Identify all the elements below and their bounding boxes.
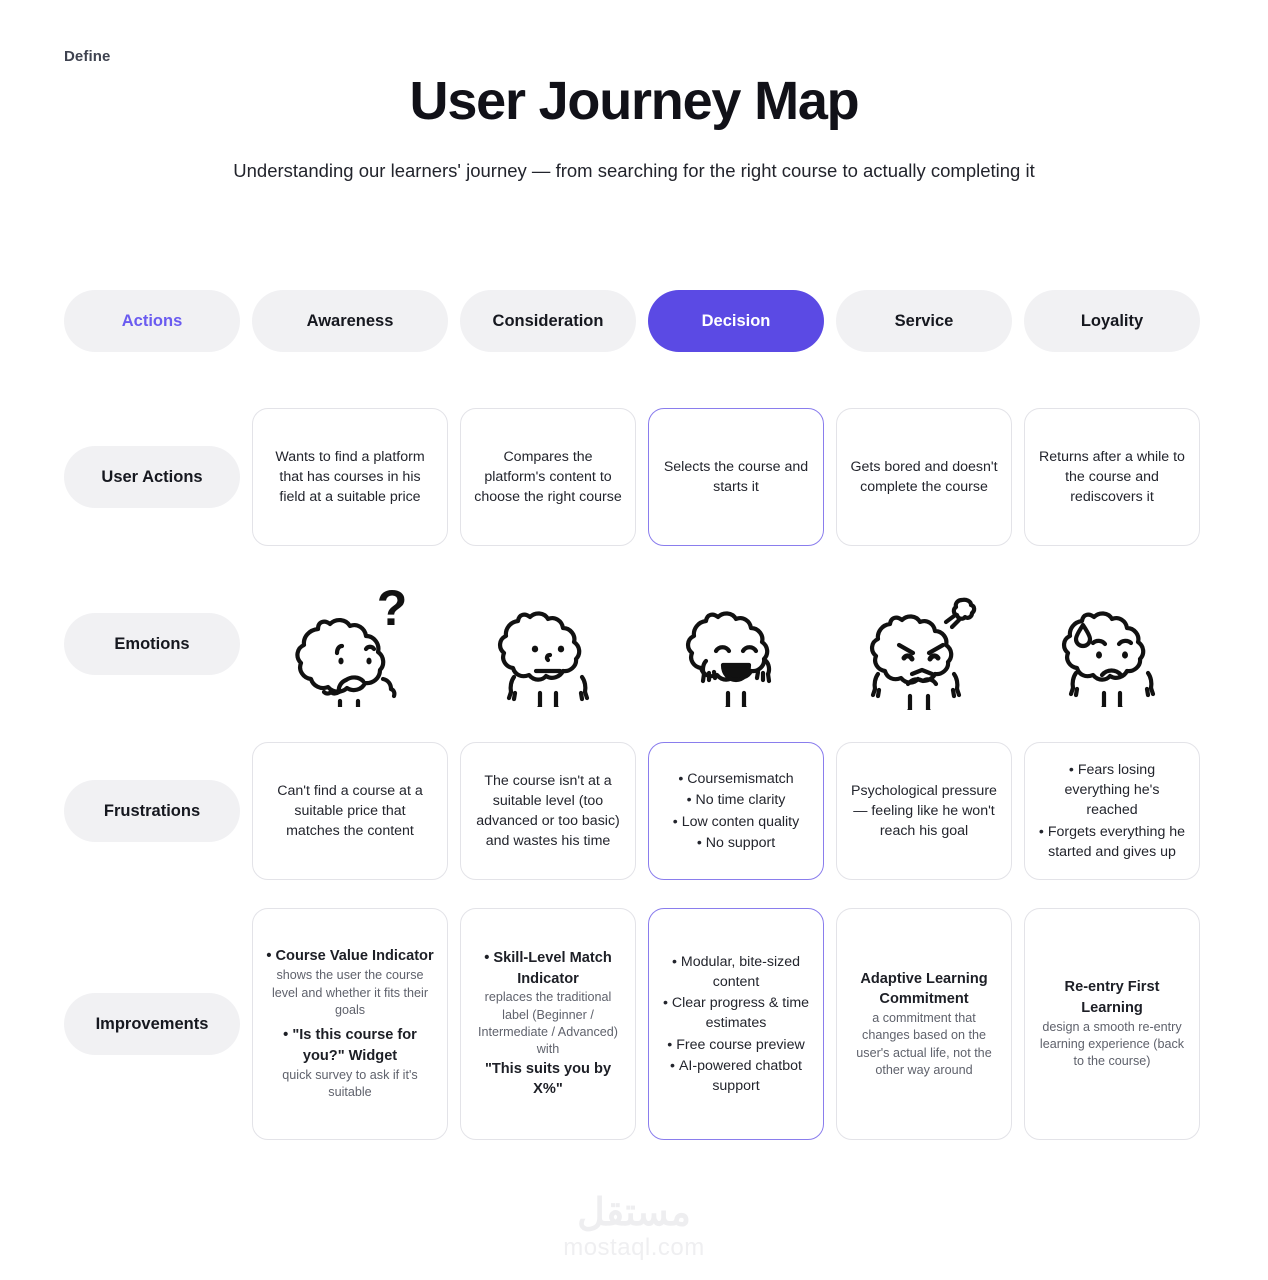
watermark: مستقل mostaql.com xyxy=(0,1194,1268,1262)
frustrations-cell-service[interactable]: Psychological pressure — feeling like he… xyxy=(836,742,1012,880)
list-item: Low conten quality xyxy=(662,812,810,832)
cell-text: Returns after a while to the course and … xyxy=(1038,447,1186,507)
cell-text: Selects the course and starts it xyxy=(662,457,810,497)
list-item: No time clarity xyxy=(662,790,810,810)
user-actions-cell-loyality[interactable]: Returns after a while to the course and … xyxy=(1024,408,1200,546)
list-item: AI-powered chatbot support xyxy=(662,1056,810,1096)
user-actions-cell-consideration[interactable]: Compares the platform's content to choos… xyxy=(460,408,636,546)
frustrations-cell-awareness[interactable]: Can't find a course at a suitable price … xyxy=(252,742,448,880)
tab-service[interactable]: Service xyxy=(836,290,1012,352)
improvement-title: "Is this course for you?" Widget xyxy=(266,1025,434,1066)
emotion-cell-awareness: ? xyxy=(252,574,448,714)
list-item: Fears losing everything he's reached xyxy=(1038,760,1186,820)
improvement-content: Re-entry First Learning design a smooth … xyxy=(1038,977,1186,1071)
improvement-title: Course Value Indicator xyxy=(266,946,434,967)
cell-text: Psychological pressure — feeling like he… xyxy=(850,781,998,841)
user-actions-cell-service[interactable]: Gets bored and doesn't complete the cour… xyxy=(836,408,1012,546)
improvement-content: Adaptive Learning Commitment a commitmen… xyxy=(850,969,998,1080)
frustrations-cell-loyality[interactable]: Fears losing everything he's reached For… xyxy=(1024,742,1200,880)
improvement-desc: shows the user the course level and whet… xyxy=(266,967,434,1019)
user-journey-map-page: Define User Journey Map Understanding ou… xyxy=(0,0,1268,1280)
cloud-character-confused-icon: ? xyxy=(280,581,420,707)
improvements-cell-consideration[interactable]: Skill-Level Match Indicator replaces the… xyxy=(460,908,636,1140)
page-subtitle: Understanding our learners' journey — fr… xyxy=(0,160,1268,182)
cell-text: Can't find a course at a suitable price … xyxy=(266,781,434,841)
watermark-arabic: مستقل xyxy=(0,1194,1268,1232)
cloud-character-neutral-icon xyxy=(488,581,608,707)
improvement-title: Adaptive Learning Commitment xyxy=(850,969,998,1010)
row-spacer xyxy=(64,546,1200,574)
improvement-highlight-quote: "This suits you by X%" xyxy=(474,1059,622,1100)
row-label-frustrations-pill: Frustrations xyxy=(64,780,240,842)
row-label-emotions-pill: Emotions xyxy=(64,613,240,675)
improvement-content: Skill-Level Match Indicator replaces the… xyxy=(474,948,622,1100)
improvement-block: Skill-Level Match Indicator replaces the… xyxy=(474,948,622,1059)
cell-text: Wants to find a platform that has course… xyxy=(266,447,434,507)
cell-text: Compares the platform's content to choos… xyxy=(474,447,622,507)
row-label-emotions: Emotions xyxy=(64,574,240,714)
row-label-user-actions-pill: User Actions xyxy=(64,446,240,508)
improvement-block: Course Value Indicator shows the user th… xyxy=(266,946,434,1019)
svg-text:?: ? xyxy=(377,581,408,636)
improvement-desc: design a smooth re-entry learning experi… xyxy=(1038,1019,1186,1071)
cloud-character-sad-icon xyxy=(1052,581,1172,707)
improvements-cell-service[interactable]: Adaptive Learning Commitment a commitmen… xyxy=(836,908,1012,1140)
emotion-cell-consideration xyxy=(460,574,636,714)
row-spacer xyxy=(64,880,1200,908)
tab-awareness[interactable]: Awareness xyxy=(252,290,448,352)
emotion-cell-decision xyxy=(648,574,824,714)
frustration-bullet-list: Fears losing everything he's reached For… xyxy=(1038,759,1186,863)
cloud-character-happy-icon xyxy=(676,581,796,707)
list-item: No support xyxy=(662,833,810,853)
improvement-title: Re-entry First Learning xyxy=(1038,977,1186,1018)
section-eyebrow: Define xyxy=(64,48,110,65)
frustration-bullet-list: Coursemismatch No time clarity Low conte… xyxy=(662,768,810,854)
improvement-content: Course Value Indicator shows the user th… xyxy=(266,946,434,1101)
tab-actions[interactable]: Actions xyxy=(64,290,240,352)
improvement-desc: a commitment that changes based on the u… xyxy=(850,1010,998,1080)
frustrations-cell-consideration[interactable]: The course isn't at a suitable level (to… xyxy=(460,742,636,880)
improvements-cell-decision[interactable]: Modular, bite-sized content Clear progre… xyxy=(648,908,824,1140)
page-title: User Journey Map xyxy=(0,70,1268,132)
list-item: Clear progress & time estimates xyxy=(662,993,810,1033)
row-spacer xyxy=(64,352,1200,408)
row-label-frustrations: Frustrations xyxy=(64,742,240,880)
improvement-bullet-list: Modular, bite-sized content Clear progre… xyxy=(662,951,810,1097)
improvement-block: "Is this course for you?" Widget quick s… xyxy=(266,1025,434,1101)
tab-consideration[interactable]: Consideration xyxy=(460,290,636,352)
list-item: Coursemismatch xyxy=(662,769,810,789)
emotion-cell-loyality xyxy=(1024,574,1200,714)
emotion-cell-service xyxy=(836,574,1012,714)
tab-loyality[interactable]: Loyality xyxy=(1024,290,1200,352)
improvements-cell-loyality[interactable]: Re-entry First Learning design a smooth … xyxy=(1024,908,1200,1140)
improvement-desc: replaces the traditional label (Beginner… xyxy=(474,989,622,1059)
list-item: Free course preview xyxy=(662,1035,810,1055)
tab-decision[interactable]: Decision xyxy=(648,290,824,352)
row-spacer xyxy=(64,714,1200,742)
row-label-improvements-pill: Improvements xyxy=(64,993,240,1055)
list-item: Modular, bite-sized content xyxy=(662,952,810,992)
improvements-cell-awareness[interactable]: Course Value Indicator shows the user th… xyxy=(252,908,448,1140)
user-actions-cell-awareness[interactable]: Wants to find a platform that has course… xyxy=(252,408,448,546)
journey-grid: Actions Awareness Consideration Decision… xyxy=(64,290,1204,1140)
cloud-character-angry-icon xyxy=(854,578,994,710)
watermark-latin: mostaql.com xyxy=(0,1234,1268,1262)
cell-text: Gets bored and doesn't complete the cour… xyxy=(850,457,998,497)
cell-text: The course isn't at a suitable level (to… xyxy=(474,771,622,852)
row-label-user-actions: User Actions xyxy=(64,408,240,546)
improvement-desc: quick survey to ask if it's suitable xyxy=(266,1067,434,1102)
frustrations-cell-decision[interactable]: Coursemismatch No time clarity Low conte… xyxy=(648,742,824,880)
list-item: Forgets everything he started and gives … xyxy=(1038,822,1186,862)
user-actions-cell-decision[interactable]: Selects the course and starts it xyxy=(648,408,824,546)
improvement-title: Skill-Level Match Indicator xyxy=(474,948,622,989)
row-label-improvements: Improvements xyxy=(64,908,240,1140)
